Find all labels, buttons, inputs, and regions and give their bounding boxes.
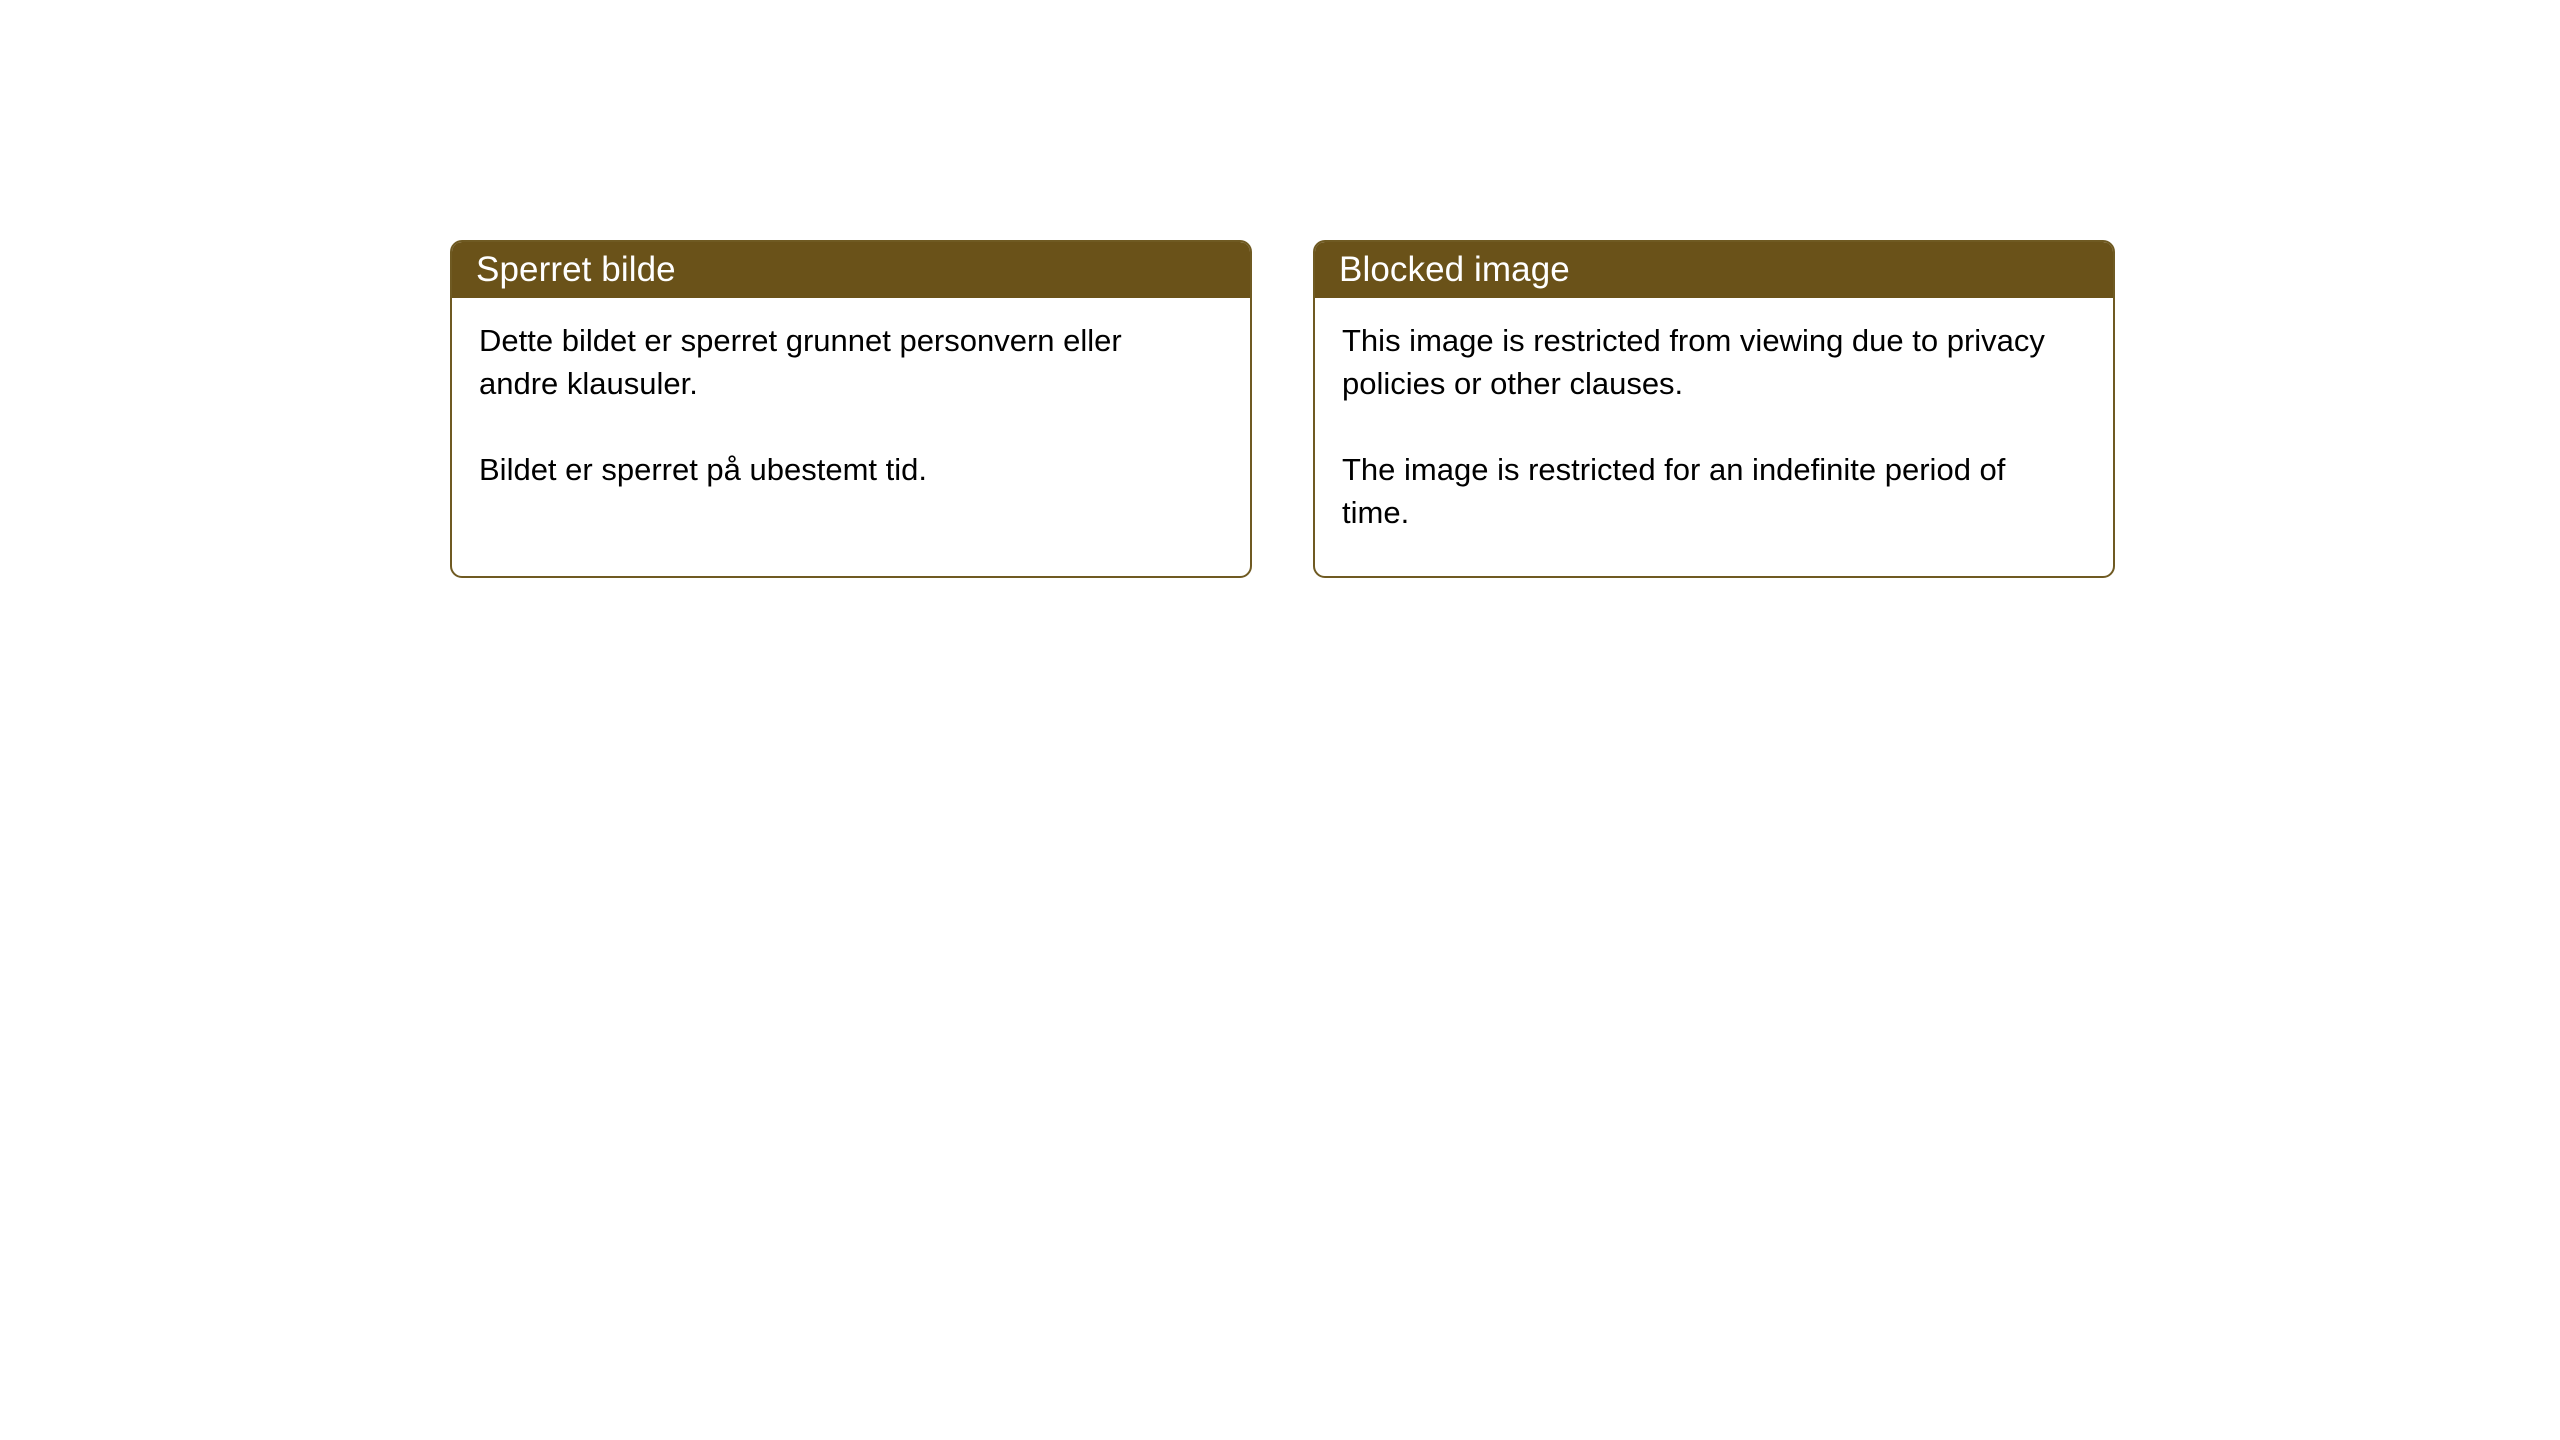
- card-paragraph-secondary-no: Bildet er sperret på ubestemt tid.: [479, 448, 1199, 491]
- page-canvas: Sperret bilde Dette bildet er sperret gr…: [0, 0, 2560, 1440]
- card-paragraph-secondary-en: The image is restricted for an indefinit…: [1342, 448, 2062, 534]
- notice-card-row: Sperret bilde Dette bildet er sperret gr…: [450, 240, 2115, 578]
- paragraph-spacer-no: [479, 405, 1224, 448]
- card-title-no: Sperret bilde: [476, 252, 676, 287]
- blocked-image-notice-card-no: Sperret bilde Dette bildet er sperret gr…: [450, 240, 1252, 578]
- card-paragraph-primary-no: Dette bildet er sperret grunnet personve…: [479, 319, 1199, 405]
- card-body-en: This image is restricted from viewing du…: [1315, 298, 2113, 576]
- blocked-image-notice-card-en: Blocked image This image is restricted f…: [1313, 240, 2115, 578]
- card-body-no: Dette bildet er sperret grunnet personve…: [452, 298, 1250, 576]
- card-title-en: Blocked image: [1339, 252, 1570, 287]
- paragraph-spacer-en: [1342, 405, 2087, 448]
- card-header-no: Sperret bilde: [450, 240, 1252, 298]
- card-header-en: Blocked image: [1313, 240, 2115, 298]
- card-paragraph-primary-en: This image is restricted from viewing du…: [1342, 319, 2062, 405]
